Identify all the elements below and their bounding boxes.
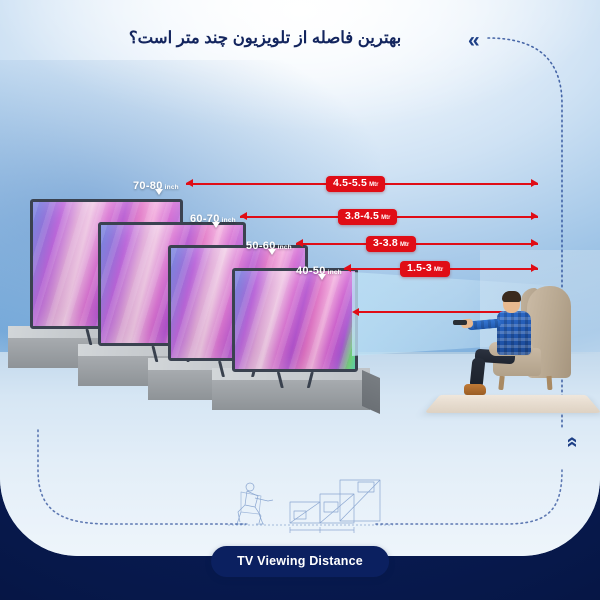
footer-label-pill: TV Viewing Distance <box>211 546 389 577</box>
content-panel: « « بهترین فاصله از تلویزیون چند متر است… <box>0 0 600 556</box>
distance-value: 4.5-5.5 <box>333 178 367 189</box>
armchair-leg <box>498 376 504 390</box>
tv-legs <box>270 372 320 388</box>
person-shoe <box>464 384 486 395</box>
distance-unit: Mtr <box>434 267 443 273</box>
distance-badge-40-50: 1.5-3 Mtr <box>400 261 450 277</box>
arrow-head-right-icon <box>531 239 538 247</box>
distance-row-70-80: 4.5-5.5 Mtr <box>186 176 538 192</box>
armchair-leg <box>547 376 553 390</box>
panel-top-glow <box>0 0 600 150</box>
arrow-head-right-icon <box>531 179 538 187</box>
distance-unit: Mtr <box>381 215 390 221</box>
distance-badge-50-60: 3-3.8 Mtr <box>366 236 416 252</box>
distance-row-60-70: 3.8-4.5 Mtr <box>240 209 538 225</box>
tv-screen <box>232 268 358 372</box>
chevron-up-icon: « <box>562 436 582 447</box>
infographic-root: « « بهترین فاصله از تلویزیون چند متر است… <box>0 0 600 600</box>
sight-line-arrow-icon <box>352 308 359 316</box>
inch-unit: inch <box>165 184 179 191</box>
blueprint-diagram <box>228 478 393 536</box>
distance-value: 3.8-4.5 <box>345 211 379 222</box>
person-hair <box>502 291 521 302</box>
inch-label-40-50: 40-50inch <box>296 261 342 279</box>
inch-label-60-70: 60-70inch <box>190 209 236 227</box>
distance-value: 1.5-3 <box>407 263 432 274</box>
viewer-scene <box>455 282 600 417</box>
page-title: بهترین فاصله از تلویزیون چند متر است؟ <box>0 28 600 48</box>
inch-unit: inch <box>222 217 236 224</box>
tv-remote-icon <box>453 320 467 325</box>
tv-40-50-inch <box>232 268 358 372</box>
floor-rug <box>424 395 600 413</box>
measure-line <box>296 243 538 245</box>
person-torso <box>497 311 531 355</box>
distance-row-50-60: 3-3.8 Mtr <box>296 236 538 252</box>
pointer-triangle-icon <box>318 274 326 280</box>
distance-row-40-50: 1.5-3 Mtr <box>344 261 538 277</box>
inch-label-50-60: 50-60inch <box>246 236 292 254</box>
pointer-triangle-icon <box>268 249 276 255</box>
pointer-triangle-icon <box>155 189 163 195</box>
distance-value: 3-3.8 <box>373 238 398 249</box>
inch-unit: inch <box>278 244 292 251</box>
pointer-triangle-icon <box>212 222 220 228</box>
arrow-head-right-icon <box>531 212 538 220</box>
distance-badge-70-80: 4.5-5.5 Mtr <box>326 176 385 192</box>
arrow-head-right-icon <box>531 264 538 272</box>
distance-badge-60-70: 3.8-4.5 Mtr <box>338 209 397 225</box>
inch-unit: inch <box>328 269 342 276</box>
distance-unit: Mtr <box>400 242 409 248</box>
distance-unit: Mtr <box>369 182 378 188</box>
inch-label-70-80: 70-80inch <box>133 176 179 194</box>
